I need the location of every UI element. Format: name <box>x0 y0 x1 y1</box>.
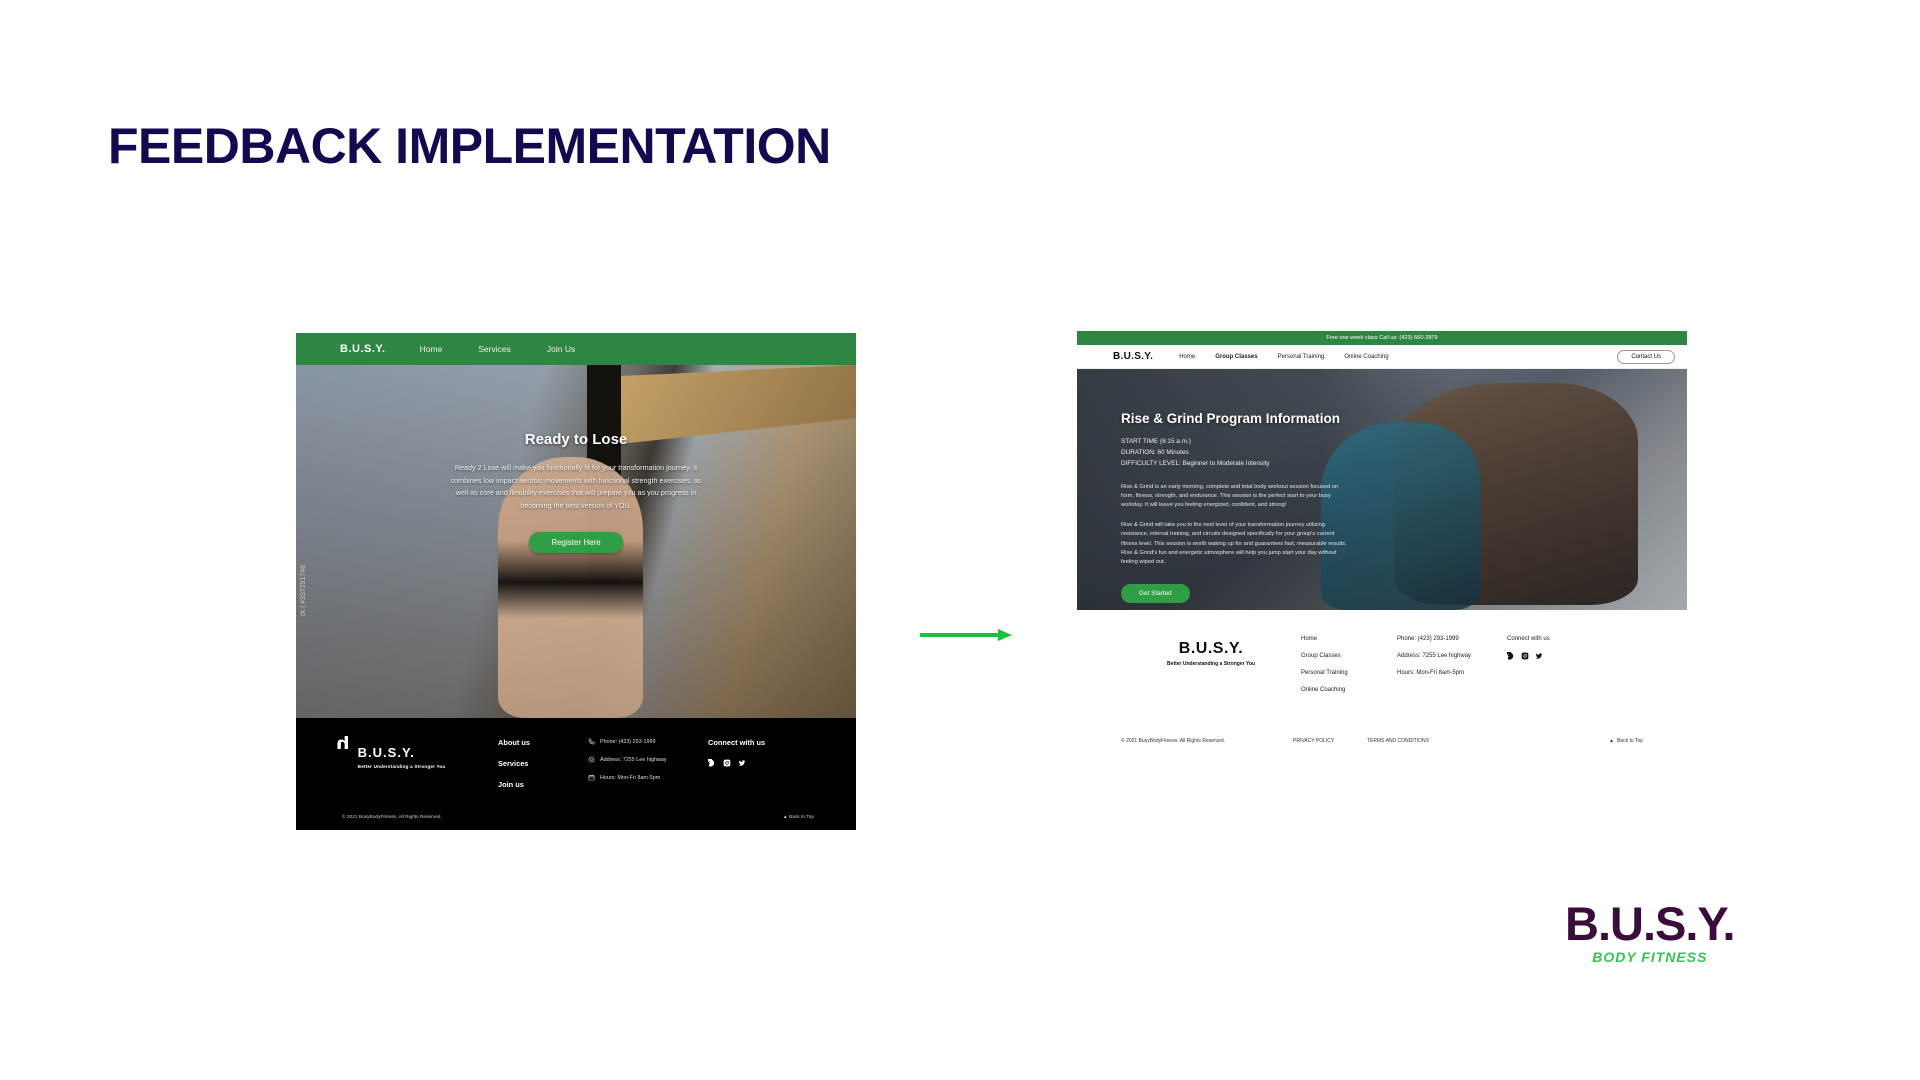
after-footer-brand-tagline: Better Understanding a Stronger You <box>1121 661 1301 667</box>
after-hero: Rise & Grind Program Information START T… <box>1077 369 1687 610</box>
after-hero-meta-duration: DURATION: 60 Minutes <box>1121 447 1687 458</box>
after-hero-paragraph-2: Rise & Grind will take you to the next l… <box>1121 521 1347 568</box>
after-footer-address: Address: 7255 Lee highway <box>1397 653 1507 659</box>
after-terms-link[interactable]: TERMS AND CONDITIONS <box>1367 738 1487 744</box>
after-nav-group-classes[interactable]: Group Classes <box>1215 354 1257 360</box>
before-footer-brand-tagline: Better Understanding a Stronger You <box>358 764 446 769</box>
after-footer-hours: Hours: Mon-Fri 8am-5pm <box>1397 670 1507 676</box>
before-footer-brand: ʰ B.U.S.Y. Better Understanding a Strong… <box>336 738 498 801</box>
mockup-before: B.U.S.Y. Home Services Join Us ck | #337… <box>296 333 856 830</box>
after-privacy-policy-link[interactable]: PRIVACY POLICY <box>1293 738 1367 744</box>
corner-brand-logo: B.U.S.Y. BODY FITNESS <box>1565 900 1735 965</box>
instagram-icon[interactable] <box>1521 652 1529 660</box>
before-contact-phone: Phone: (423) 293-1999 <box>588 738 708 745</box>
after-social-heading: Connect with us <box>1507 636 1597 642</box>
after-footer-contacts: Phone: (423) 293-1999 Address: 7255 Lee … <box>1397 636 1507 704</box>
before-footer-brand-name: B.U.S.Y. <box>358 745 415 760</box>
green-right-arrow-icon <box>920 628 1016 642</box>
before-contact-hours: Hours: Mon-Fri 8am-5pm <box>588 774 708 781</box>
after-hero-meta-difficulty: DIFFICULTY LEVEL: Beginner to Moderate I… <box>1121 458 1687 469</box>
mockup-after: Free one week class Call us: (423) 660-2… <box>1077 331 1687 836</box>
corner-brand-tagline: BODY FITNESS <box>1565 949 1735 965</box>
after-hero-meta-start: START TIME (6:15 a.m.) <box>1121 436 1687 447</box>
before-social-heading: Connect with us <box>708 738 765 747</box>
before-hero: ck | #337291748 Ready to Lose Ready 2 Lo… <box>296 365 856 718</box>
facebook-icon[interactable] <box>708 759 716 767</box>
after-logo[interactable]: B.U.S.Y. <box>1113 351 1153 362</box>
before-contact-hours-text: Hours: Mon-Fri 8am-5pm <box>600 775 660 781</box>
before-footer-link-services[interactable]: Services <box>498 759 588 768</box>
slide-root: FEEDBACK IMPLEMENTATION B.U.S.Y. Home Se… <box>0 0 1920 1080</box>
before-register-button[interactable]: Register Here <box>529 532 622 553</box>
before-hero-watermark: ck | #337291748 <box>300 565 307 617</box>
after-back-to-top[interactable]: ▲ Back to Top <box>1609 738 1643 744</box>
page-title: FEEDBACK IMPLEMENTATION <box>108 117 831 175</box>
phone-icon <box>588 738 595 745</box>
location-icon <box>588 756 595 763</box>
after-footer-links: Home Group Classes Personal Training Onl… <box>1301 636 1397 704</box>
after-copyright: © 2021 BusyBodyFitness. All Rights Reser… <box>1121 738 1293 744</box>
after-footer: B.U.S.Y. Better Understanding a Stronger… <box>1077 610 1687 760</box>
after-nav-home[interactable]: Home <box>1179 354 1195 360</box>
after-footer-link-home[interactable]: Home <box>1301 636 1397 642</box>
after-footer-phone: Phone: (423) 293-1999 <box>1397 636 1507 642</box>
after-navbar: B.U.S.Y. Home Group Classes Personal Tra… <box>1077 345 1687 369</box>
after-footer-brand: B.U.S.Y. Better Understanding a Stronger… <box>1121 636 1301 704</box>
twitter-icon[interactable] <box>738 759 746 767</box>
instagram-icon[interactable] <box>723 759 731 767</box>
after-contact-us-button[interactable]: Contact Us <box>1617 350 1675 364</box>
before-hero-body: Ready 2 Lose will make you functionally … <box>446 462 706 512</box>
after-footer-social: Connect with us <box>1507 636 1597 704</box>
before-copyright: © 2021 BusyBodyFitness. All Rights Reser… <box>342 815 442 820</box>
facebook-icon[interactable] <box>1507 652 1515 660</box>
before-footer: ʰ B.U.S.Y. Better Understanding a Strong… <box>296 718 856 830</box>
before-nav-joinus[interactable]: Join Us <box>547 344 575 354</box>
after-footer-link-online-coaching[interactable]: Online Coaching <box>1301 687 1397 693</box>
before-logo[interactable]: B.U.S.Y. <box>340 343 386 355</box>
before-footer-contacts: Phone: (423) 293-1999 Address: 7255 Lee … <box>588 738 708 801</box>
before-footer-logo-mark: ʰ <box>336 738 350 762</box>
before-contact-phone-text: Phone: (423) 293-1999 <box>600 739 655 745</box>
after-footer-link-personal-training[interactable]: Personal Training <box>1301 670 1397 676</box>
after-footer-brand-name: B.U.S.Y. <box>1121 640 1301 658</box>
after-nav-personal-training[interactable]: Personal Training <box>1278 354 1325 360</box>
after-get-started-button[interactable]: Get Started <box>1121 584 1190 603</box>
after-hero-heading: Rise & Grind Program Information <box>1121 411 1687 426</box>
before-nav-services[interactable]: Services <box>478 344 511 354</box>
before-hero-heading: Ready to Lose <box>525 431 628 448</box>
before-navbar: B.U.S.Y. Home Services Join Us <box>296 333 856 365</box>
after-footer-link-group-classes[interactable]: Group Classes <box>1301 653 1397 659</box>
before-contact-address-text: Address: 7255 Lee highway <box>600 757 667 763</box>
after-nav-online-coaching[interactable]: Online Coaching <box>1344 354 1388 360</box>
before-footer-links: About us Services Join us <box>498 738 588 801</box>
after-hero-meta: START TIME (6:15 a.m.) DURATION: 60 Minu… <box>1121 436 1687 470</box>
before-footer-link-joinus[interactable]: Join us <box>498 780 588 789</box>
before-footer-link-about[interactable]: About us <box>498 738 588 747</box>
twitter-icon[interactable] <box>1535 652 1543 660</box>
before-footer-social: Connect with us <box>708 738 765 801</box>
clock-icon <box>588 774 595 781</box>
before-back-to-top[interactable]: ▲ Back to Top <box>783 815 814 820</box>
after-promo-banner: Free one week class Call us: (423) 660-2… <box>1077 331 1687 345</box>
corner-brand-name: B.U.S.Y. <box>1565 900 1735 947</box>
after-hero-paragraph-1: Rise & Grind is an early morning, comple… <box>1121 483 1347 511</box>
before-nav-home[interactable]: Home <box>420 344 443 354</box>
before-contact-address: Address: 7255 Lee highway <box>588 756 708 763</box>
